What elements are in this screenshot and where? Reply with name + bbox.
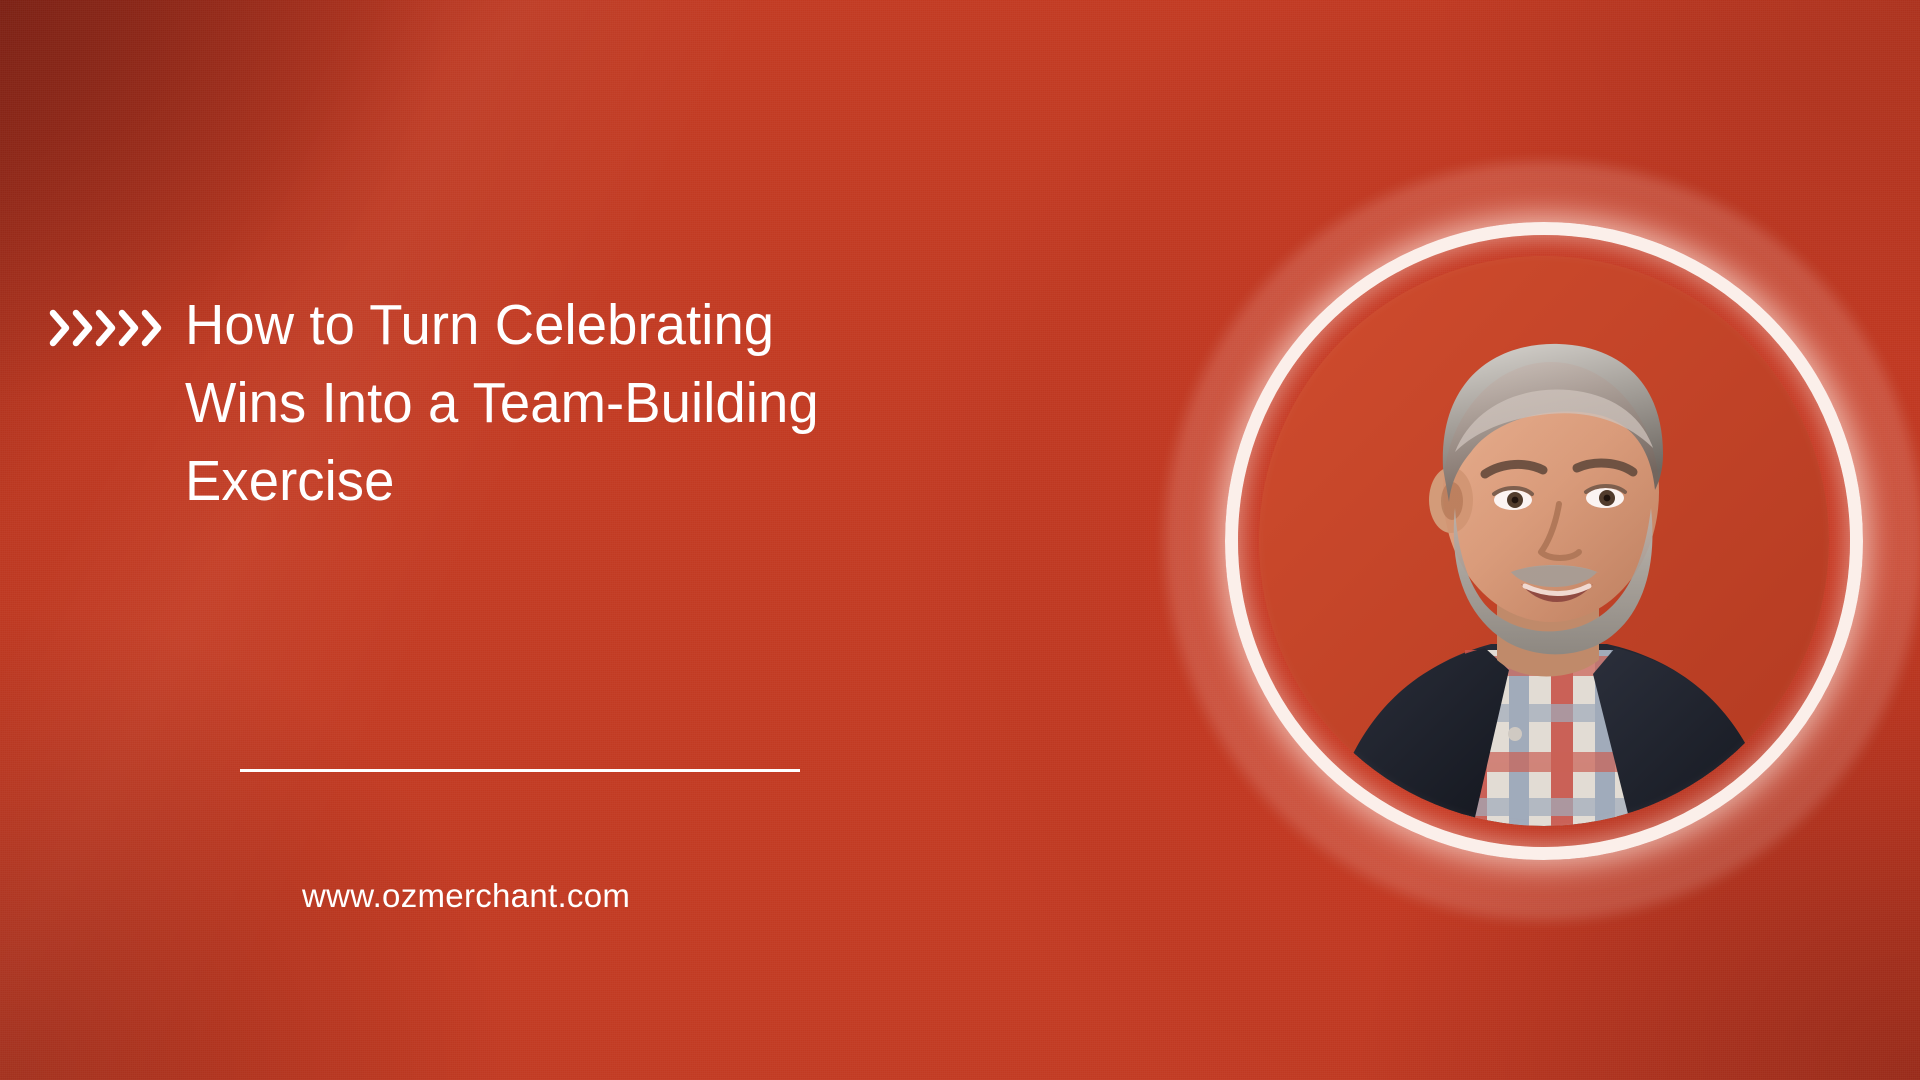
banner-content: How to Turn Celebrating Wins Into a Team…	[0, 0, 1160, 1080]
page-title: How to Turn Celebrating Wins Into a Team…	[185, 286, 819, 520]
portrait-container	[1225, 222, 1863, 860]
headline-row: How to Turn Celebrating Wins Into a Team…	[48, 286, 1128, 520]
divider	[240, 769, 800, 772]
site-url-label: www.ozmerchant.com	[302, 877, 630, 915]
portrait-ring	[1225, 222, 1863, 860]
chevron-group	[48, 309, 163, 347]
chevron-right-icon	[140, 309, 166, 347]
